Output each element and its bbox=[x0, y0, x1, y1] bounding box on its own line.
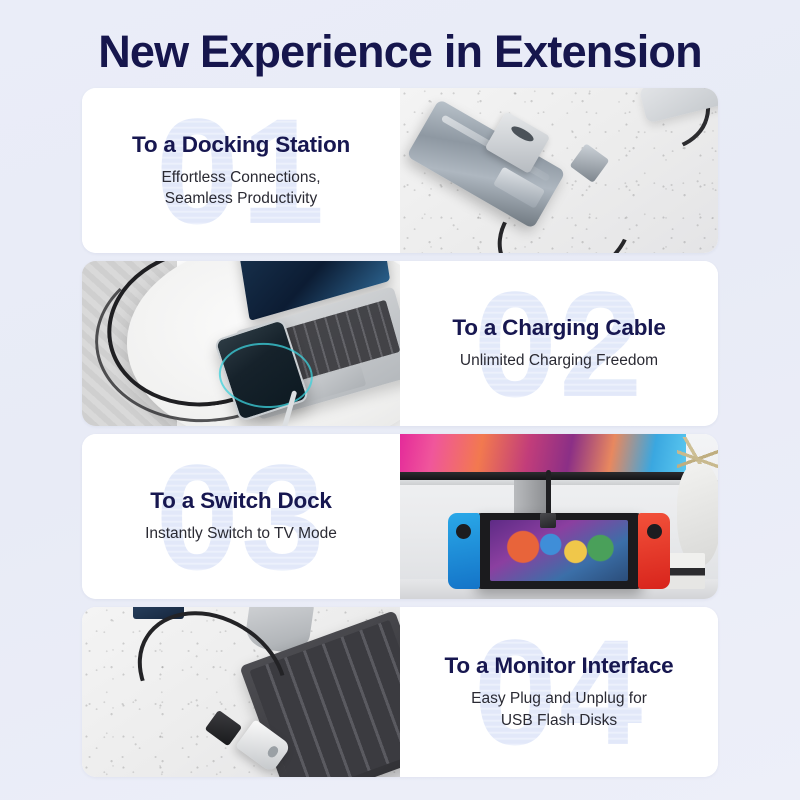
photo-docking-station bbox=[400, 88, 718, 253]
nintendo-switch-console bbox=[476, 513, 641, 589]
feature-row-1: 01 To a Docking Station Effortless Conne… bbox=[82, 88, 718, 253]
feature-photo-panel-1 bbox=[400, 88, 718, 253]
photo-monitor-interface bbox=[82, 607, 400, 777]
feature-text-panel-3: 03 To a Switch Dock Instantly Switch to … bbox=[82, 434, 400, 599]
page-title: New Experience in Extension bbox=[0, 26, 800, 78]
feature-subtitle-2: Unlimited Charging Freedom bbox=[460, 350, 658, 371]
feature-heading-1: To a Docking Station bbox=[132, 132, 350, 158]
photo-charging-cable bbox=[82, 261, 400, 426]
feature-subtitle-1: Effortless Connections, Seamless Product… bbox=[161, 167, 320, 210]
feature-heading-4: To a Monitor Interface bbox=[445, 653, 674, 679]
feature-subtitle-1-line1: Effortless Connections, bbox=[161, 167, 320, 188]
feature-subtitle-4-line2: USB Flash Disks bbox=[471, 710, 647, 731]
feature-photo-panel-2 bbox=[82, 261, 400, 426]
watermark-number-02: 02 bbox=[474, 269, 645, 419]
feature-row-4: 04 To a Monitor Interface Easy Plug and … bbox=[82, 607, 718, 777]
joycon-left-blue bbox=[448, 513, 479, 589]
feature-text-panel-1: 01 To a Docking Station Effortless Conne… bbox=[82, 88, 400, 253]
feature-subtitle-3-line1: Instantly Switch to TV Mode bbox=[145, 523, 337, 544]
feature-subtitle-1-line2: Seamless Productivity bbox=[161, 188, 320, 209]
monitor-display-image bbox=[400, 434, 686, 474]
feature-heading-3: To a Switch Dock bbox=[150, 488, 331, 514]
feature-subtitle-3: Instantly Switch to TV Mode bbox=[145, 523, 337, 544]
feature-heading-2: To a Charging Cable bbox=[452, 315, 665, 341]
feature-card-grid: 01 To a Docking Station Effortless Conne… bbox=[82, 88, 718, 777]
switch-usb-c-plug bbox=[540, 513, 556, 528]
feature-photo-panel-3 bbox=[400, 434, 718, 599]
feature-subtitle-2-line1: Unlimited Charging Freedom bbox=[460, 350, 658, 371]
feature-row-2: 02 To a Charging Cable Unlimited Chargin… bbox=[82, 261, 718, 426]
product-feature-page: New Experience in Extension 01 To a Dock… bbox=[0, 0, 800, 800]
vase bbox=[677, 464, 718, 566]
feature-subtitle-4: Easy Plug and Unplug for USB Flash Disks bbox=[471, 688, 647, 731]
feature-photo-panel-4 bbox=[82, 607, 400, 777]
switch-game-screen bbox=[490, 520, 629, 581]
photo-switch-dock bbox=[400, 434, 718, 599]
glass-shelf bbox=[400, 480, 718, 485]
feature-row-3: 03 To a Switch Dock Instantly Switch to … bbox=[82, 434, 718, 599]
feature-text-panel-2: 02 To a Charging Cable Unlimited Chargin… bbox=[400, 261, 718, 426]
joycon-right-red bbox=[638, 513, 669, 589]
monitor-stand bbox=[514, 480, 546, 516]
watermark-number-03: 03 bbox=[156, 442, 327, 592]
feature-text-panel-4: 04 To a Monitor Interface Easy Plug and … bbox=[400, 607, 718, 777]
feature-subtitle-4-line1: Easy Plug and Unplug for bbox=[471, 688, 647, 709]
